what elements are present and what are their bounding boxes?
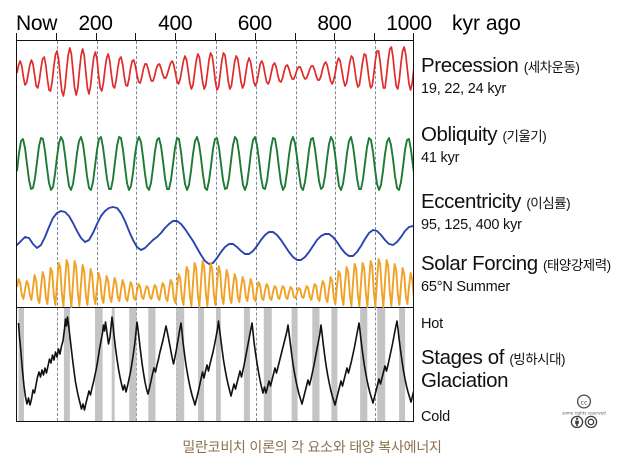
legend-eccentricity-periods: 95, 125, 400 kyr [421, 217, 570, 233]
legend-eccentricity-title-en: Eccentricity [421, 190, 521, 213]
legend-glaciation-title-line2: Glaciation [421, 370, 565, 393]
legend-solar-forcing-title-en: Solar Forcing [421, 252, 538, 275]
legend-eccentricity-title: Eccentricity (이심률) [421, 191, 570, 214]
legend-eccentricity: Eccentricity (이심률) 95, 125, 400 kyr [421, 191, 570, 233]
x-axis-labels: Now 200 400 600 800 1000 kyr ago [0, 12, 624, 38]
precession-curve [17, 47, 414, 96]
legend-obliquity-title-ko: (기울기) [502, 129, 546, 144]
solar-forcing-curve [17, 259, 414, 307]
tickmark-600 [255, 33, 256, 40]
legend-precession-title: Precession (세차운동) [421, 55, 579, 78]
tickmark-0 [16, 33, 17, 40]
plot-area [16, 40, 414, 422]
legend-obliquity-periods: 41 kyr [421, 150, 546, 166]
obliquity-curve [17, 137, 414, 190]
tickmark-300 [135, 33, 136, 40]
legend-precession-title-en: Precession [421, 54, 518, 77]
tickmark-900 [374, 33, 375, 40]
tickmark-400 [175, 33, 176, 40]
legend-precession-periods: 19, 22, 24 kyr [421, 81, 579, 97]
legend-solar-forcing-title: Solar Forcing (태양강제력) [421, 253, 611, 276]
legend-solar-forcing-title-ko: (태양강제력) [543, 258, 611, 273]
legend-glaciation: Stages of (빙하시대) Glaciation [421, 347, 565, 393]
tickmark-700 [295, 33, 296, 40]
legend-eccentricity-title-ko: (이심률) [526, 196, 570, 211]
tickmark-500 [215, 33, 216, 40]
axis-tick-label-now: Now [16, 12, 57, 36]
tickmark-800 [334, 33, 335, 40]
legend-glaciation-title-ko: (빙하시대) [509, 352, 565, 367]
legend-glaciation-cold-label: Cold [421, 409, 450, 425]
figure-caption: 밀란코비치 이론의 각 요소와 태양 복사에너지 [0, 437, 624, 457]
tickmark-200 [96, 33, 97, 40]
curve-layer [17, 41, 414, 422]
legend-glaciation-title-line1: Stages of (빙하시대) [421, 347, 565, 370]
eccentricity-curve [17, 207, 414, 264]
glacial-shaded-bands [19, 308, 406, 421]
svg-text:cc: cc [580, 398, 588, 406]
legend-precession: Precession (세차운동) 19, 22, 24 kyr [421, 55, 579, 97]
milankovitch-figure: Now 200 400 600 800 1000 kyr ago [0, 0, 624, 469]
axis-label-cold: Cold [421, 409, 450, 425]
tickmark-1000 [413, 33, 414, 40]
cc-by-icon [571, 416, 582, 427]
legend-obliquity-title: Obliquity (기울기) [421, 124, 546, 147]
creative-commons-badge: cc some rights reserved [556, 394, 612, 428]
legend-obliquity: Obliquity (기울기) 41 kyr [421, 124, 546, 166]
axis-tick-label-1000: 1000 [386, 12, 432, 36]
cc-sa-icon [585, 416, 596, 427]
legend-glaciation-title-en-1: Stages of [421, 346, 504, 369]
legend-glaciation-hot-label: Hot [421, 316, 443, 332]
legend-solar-forcing: Solar Forcing (태양강제력) 65°N Summer [421, 253, 611, 295]
svg-text:some rights reserved: some rights reserved [562, 411, 606, 416]
tickmark-100 [56, 33, 57, 40]
legend-precession-title-ko: (세차운동) [524, 60, 580, 75]
axis-label-hot: Hot [421, 316, 443, 332]
legend-obliquity-title-en: Obliquity [421, 123, 497, 146]
axis-unit-label: kyr ago [452, 12, 521, 36]
legend-solar-forcing-periods: 65°N Summer [421, 279, 611, 295]
